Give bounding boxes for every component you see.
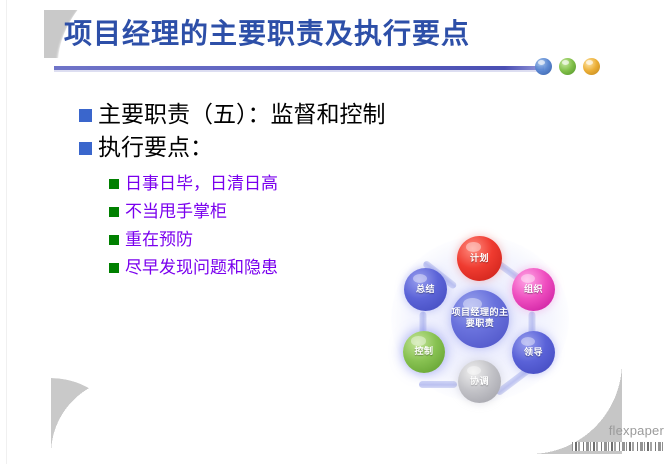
bullet-item-level1: 执行要点： — [79, 133, 499, 164]
bullet-square-green-icon — [109, 263, 119, 273]
title-sphere-orange-icon — [583, 58, 600, 75]
slide-canvas: 项目经理的主要职责及执行要点 主要职责（五）：监督和控制 执行要点： 日事日毕，… — [7, 0, 664, 464]
diagram-node-organize: 组织 — [512, 268, 555, 311]
cycle-diagram: 项目经理的主要职责 计划 组织 领导 协调 控制 总结 — [385, 232, 575, 407]
title-sphere-group — [535, 58, 600, 75]
bullet-text-level2: 重在预防 — [125, 229, 193, 251]
diagram-node-control: 控制 — [403, 331, 445, 373]
watermark-barcode-strip — [572, 442, 664, 451]
diagram-connector — [419, 381, 457, 388]
bullet-square-green-icon — [109, 179, 119, 189]
diagram-node-lead-label: 领导 — [524, 348, 543, 358]
bullet-item-level2: 不当甩手掌柜 — [109, 201, 499, 223]
bullet-square-blue-icon — [79, 142, 92, 155]
diagram-node-control-label: 控制 — [414, 347, 433, 357]
diagram-node-plan-label: 计划 — [470, 254, 489, 264]
bullet-text-level2: 尽早发现问题和隐患 — [125, 257, 278, 279]
bullet-square-green-icon — [109, 235, 119, 245]
diagram-node-center-label: 项目经理的主要职责 — [451, 308, 509, 330]
slide-title: 项目经理的主要职责及执行要点 — [64, 14, 470, 54]
bullet-item-level1: 主要职责（五）：监督和控制 — [79, 100, 499, 131]
flexpaper-watermark-label: flexpaper — [609, 423, 664, 438]
bottom-left-swoosh-decoration — [51, 378, 127, 454]
diagram-node-coordinate-label: 协调 — [470, 377, 489, 387]
diagram-node-lead: 领导 — [512, 331, 555, 374]
bullet-item-level2: 日事日毕，日清日高 — [109, 173, 499, 195]
bullet-text-level1: 主要职责（五）：监督和控制 — [98, 100, 386, 131]
bullet-text-level2: 不当甩手掌柜 — [125, 201, 227, 223]
diagram-node-summary: 总结 — [404, 268, 447, 311]
diagram-node-organize-label: 组织 — [524, 285, 543, 295]
diagram-node-center: 项目经理的主要职责 — [451, 290, 509, 348]
slide-page: 项目经理的主要职责及执行要点 主要职责（五）：监督和控制 执行要点： 日事日毕，… — [0, 0, 664, 464]
title-underline-shadow — [54, 70, 544, 72]
bullet-square-green-icon — [109, 207, 119, 217]
diagram-node-coordinate: 协调 — [458, 360, 501, 403]
bullet-text-level2: 日事日毕，日清日高 — [125, 173, 278, 195]
diagram-node-summary-label: 总结 — [416, 285, 435, 295]
bullet-text-level1: 执行要点： — [98, 133, 213, 164]
title-sphere-green-icon — [559, 58, 576, 75]
bullet-square-blue-icon — [79, 109, 92, 122]
diagram-node-plan: 计划 — [457, 236, 502, 281]
title-sphere-blue-icon — [535, 58, 552, 75]
